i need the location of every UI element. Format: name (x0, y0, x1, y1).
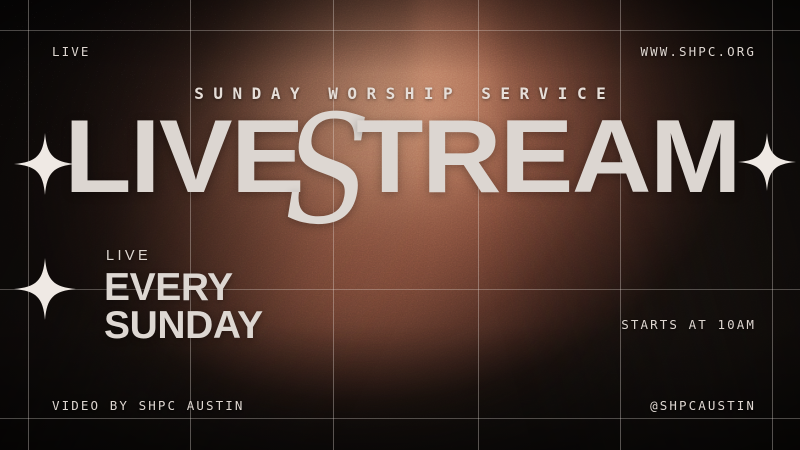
schedule-kicker: LIVE (106, 248, 263, 264)
headline-word-tream: TREAM (356, 105, 740, 209)
start-time-label: STARTS AT 10AM (621, 317, 756, 332)
video-credit: VIDEO BY SHPC AUSTIN (52, 398, 245, 413)
social-handle[interactable]: @SHPCAUSTIN (650, 398, 756, 413)
livestream-graphic-canvas: LIVE WWW.SHPC.ORG SUNDAY WORSHIP SERVICE… (0, 0, 800, 450)
schedule-block: LIVE EVERY SUNDAY (104, 248, 263, 345)
schedule-line-every: EVERY (104, 269, 263, 307)
website-url[interactable]: WWW.SHPC.ORG (640, 44, 756, 59)
headline-word-live: LIVE (64, 105, 303, 209)
live-badge-top-left: LIVE (52, 44, 91, 59)
headline-livestream: LIVE S TREAM (0, 104, 800, 210)
vignette-overlay (0, 0, 800, 450)
schedule-line-sunday: SUNDAY (104, 307, 263, 345)
